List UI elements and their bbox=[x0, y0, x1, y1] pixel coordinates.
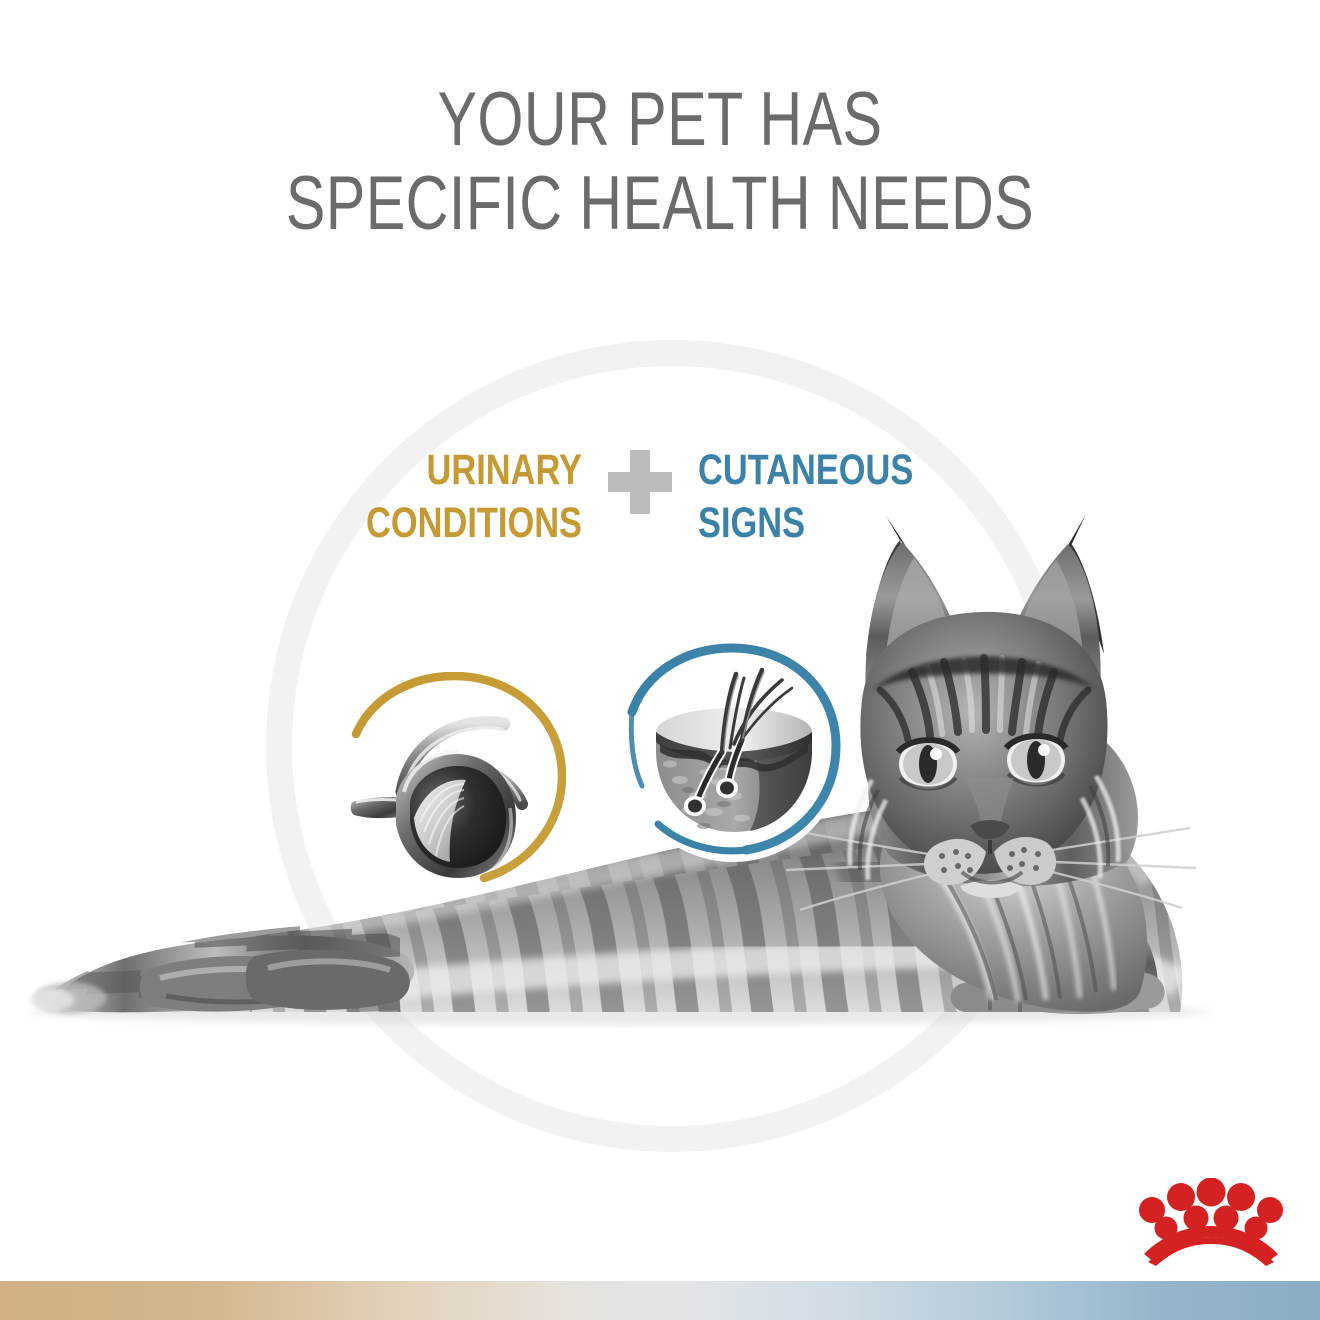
benefit-label-urinary: URINARY CONDITIONS bbox=[350, 444, 582, 550]
cutaneous-signs-icon-badge bbox=[622, 640, 844, 862]
skin-hair-follicle-icon bbox=[622, 640, 844, 862]
page-title: YOUR PET HAS SPECIFIC HEALTH NEEDS bbox=[145, 78, 1175, 246]
benefit-labels-row: URINARY CONDITIONS CUTANEOUS SIGNS bbox=[0, 444, 1320, 550]
bladder-cross-section-icon bbox=[344, 672, 566, 894]
plus-icon bbox=[608, 450, 672, 514]
benefit-label-cutaneous: CUTANEOUS SIGNS bbox=[698, 444, 962, 550]
urinary-conditions-icon-badge bbox=[344, 672, 566, 894]
royal-canin-crown-logo bbox=[1136, 1178, 1286, 1266]
footer-gradient-bar bbox=[0, 1281, 1320, 1320]
poster-canvas: YOUR PET HAS SPECIFIC HEALTH NEEDS URINA… bbox=[0, 0, 1320, 1320]
